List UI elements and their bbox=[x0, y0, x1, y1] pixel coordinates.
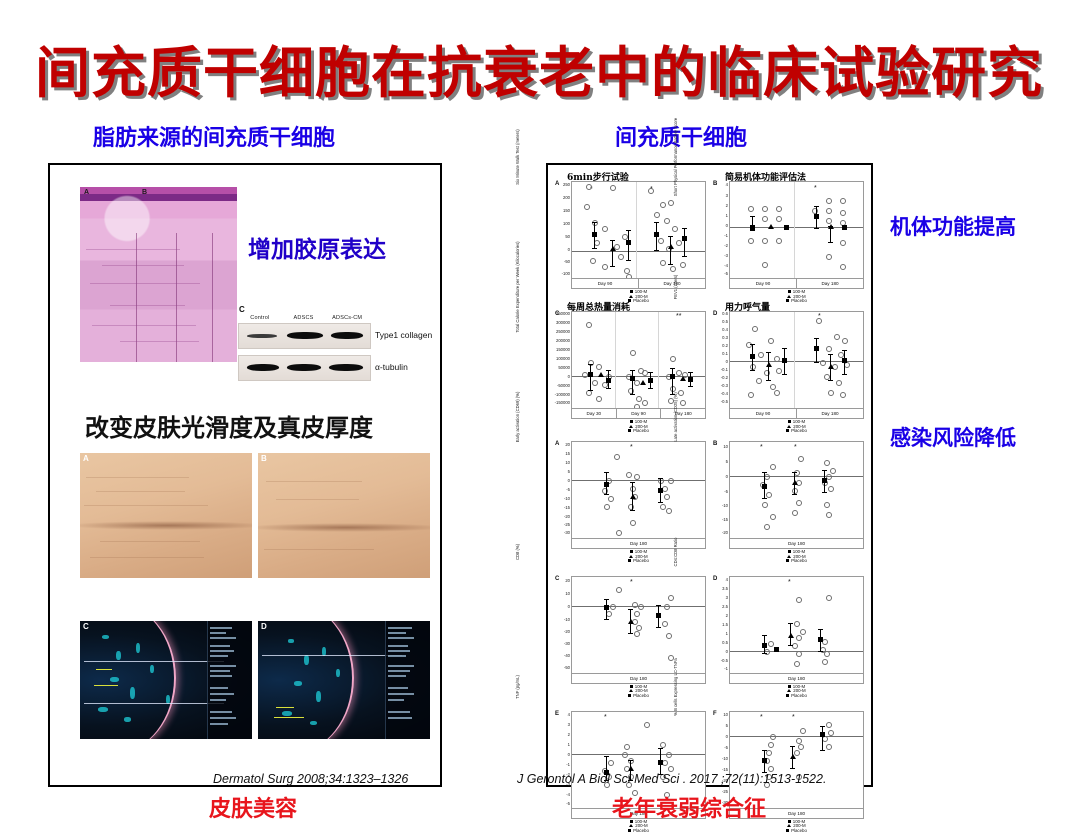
plot-area-cd25: * * bbox=[729, 441, 864, 539]
significance-star: * bbox=[604, 714, 607, 721]
y-tick: 50 bbox=[565, 235, 570, 239]
callout-infection-risk: 感染风险降低 bbox=[890, 422, 1016, 452]
chart-panel-b-sppb: B 简易机体功能评估法 4 3 2 1 0 -1 -2 -3 -4 -5 bbox=[713, 181, 864, 304]
oct-speckle bbox=[116, 651, 121, 660]
blot-lane-label: ADSCs-CM bbox=[325, 315, 369, 321]
oct-readout-panel bbox=[385, 621, 430, 739]
oct-surface-arc bbox=[258, 621, 354, 739]
y-tick: 2 bbox=[726, 204, 728, 208]
y-tick: 0.6 bbox=[722, 312, 728, 316]
y-tick: 0 bbox=[568, 753, 570, 757]
blot-lane-label: Control bbox=[238, 315, 282, 321]
oct-reference-line bbox=[84, 661, 224, 662]
y-tick: -0.5 bbox=[721, 659, 728, 663]
legend-entry: Placebo bbox=[791, 558, 807, 563]
plot-area-c: ** bbox=[571, 311, 706, 409]
y-tick: 3 bbox=[568, 723, 570, 727]
x-tick: Day 180 bbox=[639, 279, 705, 288]
y-tick: 0 bbox=[726, 475, 728, 479]
histology-divider bbox=[212, 233, 213, 363]
y-axis-label-a: Six Minute Walk Test (meters) bbox=[515, 109, 520, 205]
legend-cd69: 100-M 200-M Placebo bbox=[571, 549, 706, 564]
citation-left: Dermatol Surg 2008;34:1323–1326 bbox=[213, 772, 408, 786]
y-tick: 15 bbox=[565, 452, 570, 456]
chart-panel-cd8: C 20 10 0 -10 -20 -30 -40 -50 CD8 (%) bbox=[555, 576, 706, 699]
histology-fiber bbox=[92, 325, 196, 326]
group-separator bbox=[636, 182, 637, 278]
significance-star: * bbox=[760, 444, 763, 451]
significance-star: * bbox=[788, 579, 791, 586]
photo-mark-b: B bbox=[261, 454, 267, 463]
significance-star: * bbox=[814, 185, 817, 192]
histology-mark-b: B bbox=[142, 189, 147, 196]
y-tick: -0.5 bbox=[721, 400, 728, 404]
chart-panel-cd25: B 10 5 0 -5 -10 -15 -20 Late activation … bbox=[713, 441, 864, 564]
skin-crease bbox=[80, 521, 252, 530]
skin-line bbox=[84, 505, 208, 506]
x-axis-c: Day 30 Day 90 Day 180 bbox=[571, 409, 706, 419]
plot-area-ratio: * bbox=[729, 576, 864, 674]
histology-divider bbox=[176, 233, 177, 363]
legend-entry: Placebo bbox=[633, 298, 649, 303]
figure-group-2: C 每周总热量消耗 350000 300000 250000 200000 15… bbox=[555, 311, 864, 434]
y-tick: 3 bbox=[726, 194, 728, 198]
y-tick: 10 bbox=[723, 713, 728, 717]
y-tick: -25 bbox=[564, 523, 570, 527]
blot-band bbox=[331, 332, 363, 339]
legend-cd8: 100-M 200-M Placebo bbox=[571, 684, 706, 699]
y-tick: 0.1 bbox=[722, 352, 728, 356]
y-axis-label-ratio: CD4:CD8 Ratio bbox=[673, 504, 678, 600]
plot-area-cd69: * bbox=[571, 441, 706, 539]
x-tick: Day 180 bbox=[730, 539, 863, 548]
histology-fiber bbox=[102, 265, 184, 266]
histology-image: A B bbox=[80, 187, 237, 362]
significance-star: * bbox=[630, 444, 633, 451]
y-tick: -30 bbox=[564, 531, 570, 535]
y-tick: 5 bbox=[726, 724, 728, 728]
right-figure-panel: A 6min步行试验 250 200 150 100 50 0 -50 -100… bbox=[546, 163, 873, 787]
zero-line bbox=[572, 480, 705, 481]
oct-mark-d: D bbox=[261, 622, 267, 631]
y-tick: 250 bbox=[563, 183, 570, 187]
page-title: 间充质干细胞在抗衰老中的临床试验研究 bbox=[0, 28, 1078, 108]
y-tick: 5 bbox=[568, 470, 570, 474]
oct-speckle bbox=[282, 711, 292, 716]
x-tick: Day 180 bbox=[797, 279, 863, 288]
y-tick: 300000 bbox=[556, 321, 570, 325]
y-tick: 0.3 bbox=[722, 336, 728, 340]
y-tick: 10 bbox=[565, 592, 570, 596]
legend-entry: Placebo bbox=[633, 828, 649, 833]
histology-fiber bbox=[110, 305, 185, 306]
y-tick: -30 bbox=[564, 642, 570, 646]
legend-cd25: 100-M 200-M Placebo bbox=[729, 549, 864, 564]
clinical-photo-a: A bbox=[80, 453, 252, 578]
oct-measure-line bbox=[274, 717, 304, 718]
oct-speckle bbox=[102, 635, 109, 639]
y-tick: -0.4 bbox=[721, 392, 728, 396]
y-tick: 10 bbox=[723, 445, 728, 449]
y-tick: 1 bbox=[568, 743, 570, 747]
x-axis-b: Day 90 Day 180 bbox=[729, 279, 864, 289]
figure-group-1: A 6min步行试验 250 200 150 100 50 0 -50 -100… bbox=[555, 181, 864, 304]
skin-line bbox=[264, 549, 374, 550]
y-axis-ticks-cd25: 10 5 0 -5 -10 -15 -20 bbox=[713, 441, 729, 537]
y-tick: 0 bbox=[568, 375, 570, 379]
y-tick: 0 bbox=[726, 360, 728, 364]
y-tick: -20 bbox=[564, 515, 570, 519]
chart-panel-d-fev1: D 用力呼气量 0.6 0.5 0.4 0.3 0.2 0.1 0 -0.1 -… bbox=[713, 311, 864, 434]
y-tick: 200 bbox=[563, 196, 570, 200]
y-tick: 4 bbox=[568, 713, 570, 717]
zero-line bbox=[730, 476, 863, 477]
legend-entry: Placebo bbox=[633, 558, 649, 563]
y-tick: -100 bbox=[562, 272, 570, 276]
y-tick: -3 bbox=[724, 254, 728, 258]
legend-entry: Placebo bbox=[633, 693, 649, 698]
plot-area-a: * * bbox=[571, 181, 706, 279]
y-tick: 0.4 bbox=[722, 328, 728, 332]
x-tick: Day 30 bbox=[572, 409, 617, 418]
skin-crease bbox=[258, 523, 430, 532]
significance-star: * bbox=[794, 444, 797, 451]
y-axis-label-c: Total Calorie Expenditure per Week (Kilo… bbox=[515, 239, 520, 335]
oct-speckle bbox=[150, 665, 154, 673]
western-blot-figure: C Control ADSCS ADSCs-CM Type1 collagen … bbox=[238, 305, 418, 381]
legend-entry: Placebo bbox=[791, 693, 807, 698]
y-tick: 0.5 bbox=[722, 320, 728, 324]
oct-reference-line bbox=[262, 655, 402, 656]
oct-image-c: C bbox=[80, 621, 252, 739]
x-tick: Day 180 bbox=[730, 674, 863, 683]
y-tick: -1 bbox=[724, 234, 728, 238]
oct-speckle bbox=[304, 655, 309, 665]
y-tick: 2 bbox=[568, 733, 570, 737]
chart-panel-a-6min-walk: A 6min步行试验 250 200 150 100 50 0 -50 -100… bbox=[555, 181, 706, 304]
legend-entry: Placebo bbox=[633, 428, 649, 433]
chart-panel-cd69: A 20 15 10 5 0 -5 -10 -15 -20 -25 -30 bbox=[555, 441, 706, 564]
skin-line bbox=[266, 481, 362, 482]
y-tick: -5 bbox=[724, 490, 728, 494]
x-tick: Day 90 bbox=[730, 409, 797, 418]
y-tick: -10 bbox=[722, 504, 728, 508]
y-tick: -5 bbox=[566, 802, 570, 806]
x-tick: Day 90 bbox=[617, 409, 662, 418]
clinical-photo-b: B bbox=[258, 453, 430, 578]
y-tick: -5 bbox=[724, 746, 728, 750]
y-axis-label-d: FEV1 (Liters) bbox=[673, 239, 678, 335]
footer-label-right: 老年衰弱综合征 bbox=[612, 791, 766, 823]
y-tick: -15 bbox=[722, 518, 728, 522]
x-tick: Day 180 bbox=[661, 409, 705, 418]
y-axis-label-bcells: % B cells Expressing LC-TNFa bbox=[673, 639, 678, 735]
y-tick: 350000 bbox=[556, 312, 570, 316]
y-axis-ticks-ratio: 4 3.5 3 2.5 2 1.5 1 0.5 0 -0.5 -1 bbox=[713, 576, 729, 672]
left-figure-panel: A B 增加胶原表达 C Control ADSCS ADSCs-CM Type… bbox=[48, 163, 442, 787]
zero-line bbox=[730, 736, 863, 737]
legend-ratio: 100-M 200-M Placebo bbox=[729, 684, 864, 699]
y-tick: -150000 bbox=[555, 401, 570, 405]
y-axis-ticks-tnf: 4 3 2 1 0 -1 -2 -3 -4 -5 bbox=[555, 711, 571, 807]
oct-measure-line bbox=[276, 707, 294, 708]
oct-speckle bbox=[288, 639, 294, 643]
oct-speckle bbox=[310, 721, 317, 725]
y-tick: -1 bbox=[566, 763, 570, 767]
y-tick: -10 bbox=[564, 618, 570, 622]
x-tick: Day 90 bbox=[572, 279, 639, 288]
y-tick: 0 bbox=[726, 650, 728, 654]
blot-band bbox=[287, 364, 321, 371]
y-tick: 100000 bbox=[556, 357, 570, 361]
oct-readout-panel bbox=[207, 621, 252, 739]
y-tick: -40 bbox=[564, 654, 570, 658]
y-tick: 0 bbox=[568, 479, 570, 483]
oct-speckle bbox=[98, 707, 108, 712]
blot-band-name-collagen: Type1 collagen bbox=[375, 330, 432, 340]
blot-band bbox=[247, 364, 279, 371]
legend-c: 100-M 200-M Placebo bbox=[571, 419, 706, 434]
y-tick: 250000 bbox=[556, 330, 570, 334]
section-heading-left: 脂肪来源的间充质干细胞 bbox=[93, 120, 335, 152]
y-tick: 2 bbox=[726, 614, 728, 618]
significance-star: * bbox=[760, 714, 763, 721]
oct-reference-line bbox=[84, 703, 224, 704]
blot-lane-label: ADSCS bbox=[282, 315, 326, 321]
y-tick: 0 bbox=[726, 735, 728, 739]
blot-band-name-tubulin: α-tubulin bbox=[375, 362, 408, 372]
x-tick: Day 180 bbox=[572, 674, 705, 683]
x-tick: Day 90 bbox=[730, 279, 797, 288]
legend-entry: Placebo bbox=[791, 298, 807, 303]
skin-line bbox=[90, 557, 204, 558]
y-tick: -5 bbox=[724, 272, 728, 276]
oct-speckle bbox=[124, 717, 131, 722]
y-tick: -20 bbox=[564, 630, 570, 634]
histology-fiber bbox=[86, 249, 180, 250]
y-tick: 0 bbox=[568, 605, 570, 609]
y-tick: 1.5 bbox=[722, 623, 728, 627]
section-heading-right: 间充质干细胞 bbox=[615, 120, 747, 152]
y-tick: -50000 bbox=[557, 384, 570, 388]
y-tick: -10 bbox=[722, 757, 728, 761]
citation-right: J Gerontol A Biol Sci Med Sci . 2017 ;72… bbox=[517, 772, 826, 786]
y-tick: -50 bbox=[564, 260, 570, 264]
blot-band bbox=[247, 334, 277, 338]
x-axis-a: Day 90 Day 180 bbox=[571, 279, 706, 289]
y-tick: -15 bbox=[564, 506, 570, 510]
y-tick: 50000 bbox=[558, 366, 570, 370]
y-tick: 4 bbox=[726, 578, 728, 582]
photo-mark-a: A bbox=[83, 454, 89, 463]
x-axis-d: Day 90 Day 180 bbox=[729, 409, 864, 419]
y-tick: 2.5 bbox=[722, 605, 728, 609]
blot-band bbox=[329, 364, 363, 371]
oct-speckle bbox=[294, 681, 302, 686]
oct-speckle bbox=[136, 643, 140, 653]
oct-speckle bbox=[130, 687, 135, 699]
y-tick: 150000 bbox=[556, 348, 570, 352]
y-tick: 0 bbox=[568, 248, 570, 252]
legend-entry: Placebo bbox=[791, 828, 807, 833]
zero-line bbox=[572, 251, 705, 252]
group-separator bbox=[658, 312, 659, 408]
y-axis-ticks-cd69: 20 15 10 5 0 -5 -10 -15 -20 -25 -30 bbox=[555, 441, 571, 537]
y-axis-label-cd69: Early activation (CD69) (%) bbox=[515, 369, 520, 465]
significance-star: * bbox=[630, 579, 633, 586]
y-tick: 3 bbox=[726, 596, 728, 600]
histology-divider bbox=[136, 233, 137, 363]
label-skin-smoothness: 改变皮肤光滑度及真皮厚度 bbox=[85, 408, 373, 443]
oct-speckle bbox=[110, 677, 119, 682]
skin-line bbox=[96, 491, 185, 492]
y-tick: 5 bbox=[726, 460, 728, 464]
label-increase-collagen: 增加胶原表达 bbox=[248, 230, 386, 264]
y-tick: -2 bbox=[724, 244, 728, 248]
oct-measure-line bbox=[96, 669, 112, 670]
y-tick: -0.3 bbox=[721, 384, 728, 388]
y-tick: -5 bbox=[566, 488, 570, 492]
blot-strip-collagen: Type1 collagen bbox=[238, 323, 371, 349]
y-tick: -0.1 bbox=[721, 368, 728, 372]
y-tick: 10 bbox=[565, 461, 570, 465]
plot-area-d: * bbox=[729, 311, 864, 409]
x-axis-ratio: Day 180 bbox=[729, 674, 864, 684]
oct-measure-line bbox=[94, 685, 118, 686]
y-tick: 20 bbox=[565, 579, 570, 583]
skin-line bbox=[276, 499, 359, 500]
x-axis-cd8: Day 180 bbox=[571, 674, 706, 684]
histology-fiber bbox=[90, 283, 200, 284]
y-tick: 1 bbox=[726, 214, 728, 218]
group-separator bbox=[794, 312, 795, 408]
x-axis-cd25: Day 180 bbox=[729, 539, 864, 549]
y-tick: 20 bbox=[565, 443, 570, 447]
y-tick: 150 bbox=[563, 209, 570, 213]
y-axis-label-cd8: CD8 (%) bbox=[515, 504, 520, 600]
y-axis-ticks-c: 350000 300000 250000 200000 150000 10000… bbox=[555, 311, 571, 407]
y-tick: -1 bbox=[724, 667, 728, 671]
y-tick: -100000 bbox=[555, 393, 570, 397]
y-tick: -4 bbox=[566, 793, 570, 797]
plot-area-cd8: * bbox=[571, 576, 706, 674]
y-tick: -20 bbox=[722, 531, 728, 535]
y-tick: 4 bbox=[726, 183, 728, 187]
y-axis-label-b: Short Physical Performance Battery Score bbox=[673, 109, 678, 205]
x-tick: Day 180 bbox=[797, 409, 863, 418]
y-tick: -10 bbox=[564, 497, 570, 501]
footer-label-left: 皮肤美容 bbox=[209, 791, 297, 823]
y-axis-ticks-cd8: 20 10 0 -10 -20 -30 -40 -50 bbox=[555, 576, 571, 672]
y-tick: 0.5 bbox=[722, 641, 728, 645]
histology-mark-a: A bbox=[84, 189, 89, 196]
group-separator bbox=[794, 182, 795, 278]
y-axis-label-cd25: Late activation (CD25) (%) bbox=[673, 369, 678, 465]
significance-star: * bbox=[792, 714, 795, 721]
zero-line bbox=[572, 754, 705, 755]
chart-panel-c-calorie: C 每周总热量消耗 350000 300000 250000 200000 15… bbox=[555, 311, 706, 434]
skin-line bbox=[100, 541, 200, 542]
histology-fiber bbox=[120, 341, 199, 342]
y-tick: -0.2 bbox=[721, 376, 728, 380]
y-axis-ticks-b: 4 3 2 1 0 -1 -2 -3 -4 -5 bbox=[713, 181, 729, 277]
legend-entry: Placebo bbox=[791, 428, 807, 433]
blot-panel-mark: C bbox=[239, 305, 418, 314]
y-axis-ticks-d: 0.6 0.5 0.4 0.3 0.2 0.1 0 -0.1 -0.2 -0.3… bbox=[713, 311, 729, 407]
y-tick: 0.2 bbox=[722, 344, 728, 348]
blot-strip-tubulin: α-tubulin bbox=[238, 355, 371, 381]
legend-d: 100-M 200-M Placebo bbox=[729, 419, 864, 434]
y-tick: 3.5 bbox=[722, 587, 728, 591]
y-tick: 0 bbox=[726, 224, 728, 228]
callout-body-function: 机体功能提高 bbox=[890, 211, 1016, 241]
blot-band bbox=[287, 332, 323, 339]
x-tick: Day 180 bbox=[572, 539, 705, 548]
oct-image-d: D bbox=[258, 621, 430, 739]
y-tick: 1 bbox=[726, 632, 728, 636]
y-axis-label-tnf: TNF (pg/mL) bbox=[515, 639, 520, 735]
y-tick: 200000 bbox=[556, 339, 570, 343]
x-axis-cd69: Day 180 bbox=[571, 539, 706, 549]
plot-area-b: * bbox=[729, 181, 864, 279]
skin-line bbox=[86, 477, 189, 478]
oct-mark-c: C bbox=[83, 622, 89, 631]
y-tick: 100 bbox=[563, 222, 570, 226]
chart-panel-cd4-cd8-ratio: D 4 3.5 3 2.5 2 1.5 1 0.5 0 -0.5 -1 bbox=[713, 576, 864, 699]
y-axis-ticks-a: 250 200 150 100 50 0 -50 -100 bbox=[555, 181, 571, 277]
y-tick: -4 bbox=[724, 264, 728, 268]
group-separator bbox=[615, 312, 616, 408]
blot-lane-labels: Control ADSCS ADSCs-CM bbox=[238, 315, 369, 321]
oct-speckle bbox=[316, 691, 321, 702]
y-tick: -50 bbox=[564, 666, 570, 670]
oct-speckle bbox=[336, 669, 340, 677]
